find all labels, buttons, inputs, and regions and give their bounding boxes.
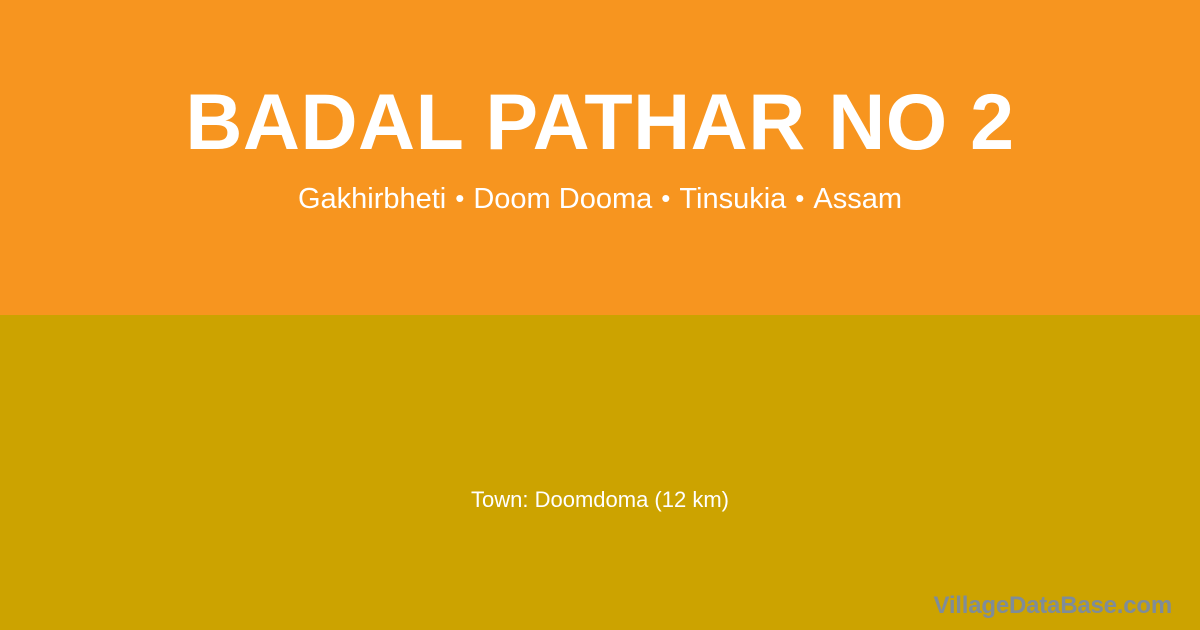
breadcrumb-item-district: Tinsukia <box>679 183 786 215</box>
header-band: BADAL PATHAR NO 2 Gakhirbheti•Doom Dooma… <box>0 0 1200 315</box>
breadcrumb-separator-icon: • <box>652 182 679 215</box>
site-watermark: VillageDataBase.com <box>933 594 1172 618</box>
breadcrumb-item-state: Assam <box>813 183 902 215</box>
breadcrumb-separator-icon: • <box>446 182 473 215</box>
breadcrumb-item-block: Doom Dooma <box>473 183 652 215</box>
breadcrumb-item-village: Gakhirbheti <box>298 183 446 215</box>
breadcrumb-separator-icon: • <box>786 182 813 215</box>
breadcrumb: Gakhirbheti•Doom Dooma•Tinsukia•Assam <box>0 181 1200 217</box>
page-title: BADAL PATHAR NO 2 <box>0 82 1200 161</box>
village-info-card: BADAL PATHAR NO 2 Gakhirbheti•Doom Dooma… <box>0 0 1200 630</box>
nearest-town-detail: Town: Doomdoma (12 km) <box>0 487 1200 513</box>
body-band: Town: Doomdoma (12 km) VillageDataBase.c… <box>0 315 1200 630</box>
